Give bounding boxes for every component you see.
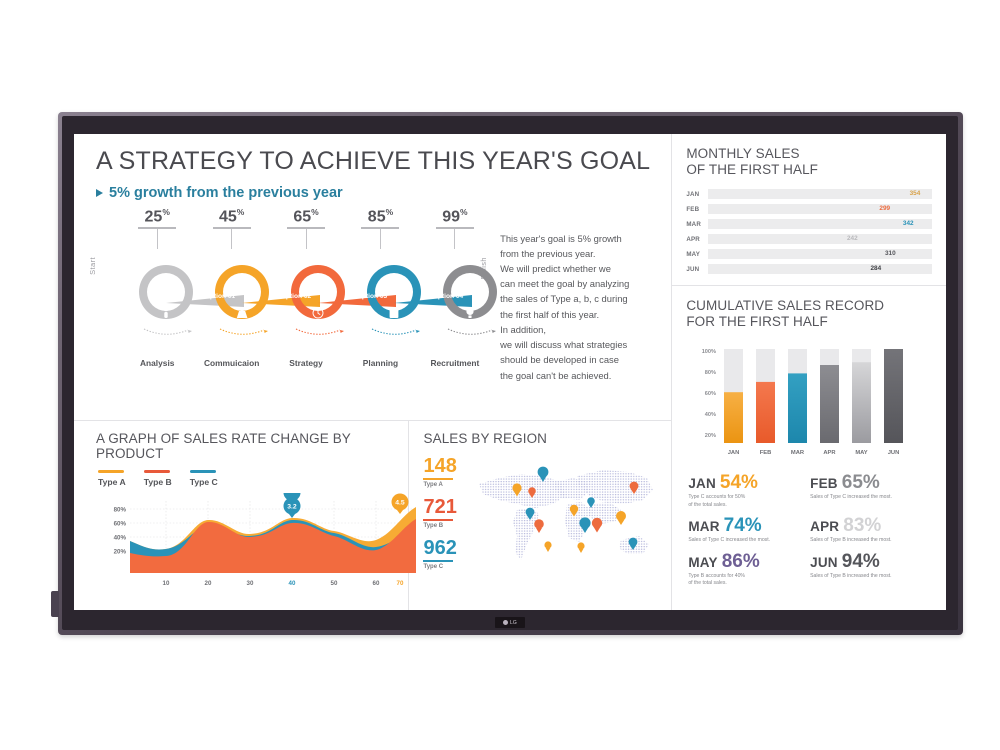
panel-title-line2: FOR THE FIRST HALF	[686, 314, 828, 329]
stat-desc-line: Type C accounts for 50%	[688, 494, 810, 502]
stat-cell: FEB 65% Sales of Type C increased the mo…	[810, 473, 932, 516]
start-label: Start	[88, 257, 97, 275]
region-stat-rule	[423, 519, 453, 521]
lg-logo-text: LG	[510, 620, 517, 626]
monitor-side-connector	[51, 591, 59, 617]
region-stat-list: 148 Type A 721 Type B	[423, 452, 469, 581]
infographic-slide: A STRATEGY TO ACHIEVE THIS YEAR'S GOAL 5…	[74, 134, 946, 610]
svg-text:Option 02: Option 02	[281, 293, 312, 300]
callout-stem	[306, 229, 307, 249]
panel-title: A GRAPH OF SALES RATE CHANGE BY PRODUCT	[96, 431, 396, 461]
cumulative-bar-may	[852, 362, 871, 443]
region-stat: 962 Type C	[423, 538, 469, 570]
bar-track: 299	[708, 204, 932, 214]
monitor-device: LG A STRATEGY TO ACHIEVE THIS YEAR'S GOA…	[58, 112, 963, 635]
process-step-labels: Analysis Commuicaion Strategy Planning R…	[86, 358, 492, 368]
svg-text:70: 70	[397, 580, 404, 587]
svg-text:80%: 80%	[705, 370, 716, 376]
cumulative-bar-jun	[884, 349, 903, 443]
percent-value: 45	[219, 208, 237, 225]
region-stat-value: 721	[423, 497, 469, 517]
process-chain: Start Finish	[86, 247, 492, 355]
bar-label: JUN	[686, 266, 708, 273]
svg-text:100%: 100%	[702, 349, 716, 355]
stat-month: JUN	[810, 555, 838, 570]
bar-label: FEB	[686, 206, 708, 213]
region-stat-value: 962	[423, 538, 469, 558]
map-marker	[578, 542, 585, 553]
region-stat: 148 Type A	[423, 456, 469, 488]
svg-text:Option 04: Option 04	[433, 293, 464, 300]
region-stat-label: Type B	[423, 523, 469, 529]
bar-value: 310	[885, 250, 896, 257]
step-label: Strategy	[269, 358, 343, 368]
bottom-panels: A GRAPH OF SALES RATE CHANGE BY PRODUCT …	[74, 420, 671, 610]
bar-row: APR 242	[686, 234, 932, 245]
map-landmass	[479, 470, 653, 560]
panel-title: MONTHLY SALES OF THE FIRST HALF	[686, 146, 932, 179]
legend-label: Type A	[98, 477, 126, 487]
hero-block: A STRATEGY TO ACHIEVE THIS YEAR'S GOAL 5…	[74, 134, 671, 201]
bar-row: MAY 310	[686, 249, 932, 260]
percent-symbol: %	[162, 207, 170, 217]
stat-percent: 54%	[720, 473, 758, 492]
legend-label: Type C	[190, 477, 218, 487]
right-column: MONTHLY SALES OF THE FIRST HALF JAN 354	[671, 134, 946, 610]
stat-desc-line: of the total sales.	[688, 502, 810, 510]
percent-callout: 99%	[418, 207, 492, 249]
stat-percent: 83%	[843, 516, 881, 535]
region-stat-label: Type A	[423, 482, 469, 488]
panel-title-line2: OF THE FIRST HALF	[686, 162, 818, 177]
chart-legend: Type A Type B Type C	[96, 470, 396, 487]
panel-title: CUMULATIVE SALES RECORD FOR THE FIRST HA…	[686, 298, 932, 331]
legend-swatch	[144, 470, 170, 473]
bar-row: JUN 284	[686, 264, 932, 275]
svg-text:Option 03: Option 03	[357, 293, 388, 300]
bar-value: 242	[847, 235, 858, 242]
subtitle-text: 5% growth from the previous year	[109, 185, 343, 201]
lg-logo-dot	[503, 620, 508, 625]
percent-symbol: %	[237, 207, 245, 217]
legend-item: Type B	[144, 470, 172, 487]
svg-text:JAN: JAN	[728, 450, 740, 456]
region-content: 148 Type A 721 Type B	[423, 452, 661, 581]
percent-callout: 45%	[194, 207, 268, 249]
legend-item: Type C	[190, 470, 218, 487]
world-map	[469, 452, 661, 581]
sales-by-region-panel: SALES BY REGION 148 Type A 72	[408, 421, 671, 610]
lg-logo: LG	[495, 617, 525, 628]
svg-text:60%: 60%	[705, 391, 716, 397]
subtitle-row: 5% growth from the previous year	[96, 185, 653, 201]
panel-title-line1: CUMULATIVE SALES RECORD	[686, 298, 884, 313]
stat-row: MAY 86% Type B accounts for 40% of the t…	[688, 552, 932, 595]
svg-text:30: 30	[247, 580, 254, 587]
stat-percent: 74%	[724, 516, 762, 535]
percent-callout: 65%	[269, 207, 343, 249]
svg-text:20%: 20%	[705, 433, 716, 439]
stat-cell: APR 83% Sales of Type B increased the mo…	[810, 516, 932, 552]
map-marker	[545, 541, 552, 552]
monthly-bar-chart: JAN 354 FEB 299	[686, 189, 932, 275]
process-row: 25% 45% 65%	[74, 201, 671, 421]
bar-label: APR	[686, 236, 708, 243]
percent-symbol: %	[311, 207, 319, 217]
percent-callout: 25%	[120, 207, 194, 249]
stat-month: FEB	[810, 476, 838, 491]
area-chart: 80% 60% 40% 20%	[96, 493, 396, 602]
region-stat: 721 Type B	[423, 497, 469, 529]
stat-month: JAN	[688, 476, 716, 491]
map-marker	[616, 511, 626, 525]
bar-track: 342	[708, 219, 932, 229]
svg-text:60: 60	[373, 580, 380, 587]
stat-month: MAR	[688, 519, 719, 534]
cumulative-bar-jan	[724, 392, 743, 443]
bar-value: 354	[910, 190, 921, 197]
svg-text:JUN: JUN	[888, 450, 900, 456]
step-label: Recruitment	[418, 358, 492, 368]
page-title: A STRATEGY TO ACHIEVE THIS YEAR'S GOAL	[96, 148, 653, 176]
callout-stem	[380, 229, 381, 249]
stat-cell: MAR 74% Sales of Type C increased the mo…	[688, 516, 810, 552]
percent-value: 65	[293, 208, 311, 225]
cumulative-sales-panel: CUMULATIVE SALES RECORD FOR THE FIRST HA…	[672, 285, 946, 467]
svg-text:40%: 40%	[114, 535, 127, 542]
stat-cell: JUN 94% Sales of Type B increased the mo…	[810, 552, 932, 595]
bar-track: 354	[708, 189, 932, 199]
percent-symbol: %	[386, 207, 394, 217]
stat-cell: JAN 54% Type C accounts for 50% of the t…	[688, 473, 810, 516]
monthly-sales-panel: MONTHLY SALES OF THE FIRST HALF JAN 354	[672, 134, 946, 285]
bar-value: 284	[870, 265, 881, 272]
svg-text:4.5: 4.5	[395, 500, 405, 507]
svg-text:20%: 20%	[114, 549, 127, 556]
panel-title-line1: MONTHLY SALES	[686, 146, 799, 161]
percent-value: 85	[368, 208, 386, 225]
bar-track: 242	[708, 234, 932, 244]
svg-text:FEB: FEB	[760, 450, 772, 456]
stat-desc-line: Sales of Type C increased the most.	[688, 537, 810, 545]
legend-label: Type B	[144, 477, 172, 487]
stat-percent: 94%	[842, 552, 880, 571]
step-label: Commuicaion	[194, 358, 268, 368]
percent-callouts: 25% 45% 65%	[86, 207, 492, 249]
bar-label: MAY	[686, 251, 708, 258]
svg-text:3.2: 3.2	[287, 504, 297, 511]
region-stat-rule	[423, 478, 453, 480]
triangle-bullet-icon	[96, 189, 103, 197]
bar-row: MAR 342	[686, 219, 932, 230]
stat-desc-line: Sales of Type B increased the most.	[810, 573, 932, 581]
svg-text:MAR: MAR	[791, 450, 805, 456]
region-stat-label: Type C	[423, 564, 469, 570]
svg-text:APR: APR	[824, 450, 837, 456]
legend-item: Type A	[98, 470, 126, 487]
monitor-bezel: LG A STRATEGY TO ACHIEVE THIS YEAR'S GOA…	[62, 116, 958, 630]
callout-stem	[231, 229, 232, 249]
legend-swatch	[190, 470, 216, 473]
screen-content: A STRATEGY TO ACHIEVE THIS YEAR'S GOAL 5…	[74, 134, 946, 610]
stat-desc-line: Type B accounts for 40%	[688, 573, 810, 581]
cumulative-bar-apr	[820, 365, 839, 443]
svg-text:Option 01: Option 01	[205, 293, 236, 300]
left-column: A STRATEGY TO ACHIEVE THIS YEAR'S GOAL 5…	[74, 134, 671, 610]
svg-text:60%: 60%	[114, 521, 127, 528]
monthly-stat-grid: JAN 54% Type C accounts for 50% of the t…	[672, 467, 946, 603]
stat-desc-line: Sales of Type B increased the most.	[810, 537, 932, 545]
cumulative-bar-chart: 100% 80% 60% 40% 20%	[686, 341, 932, 461]
region-stat-rule	[423, 560, 453, 562]
stat-cell: MAY 86% Type B accounts for 40% of the t…	[688, 552, 810, 595]
bar-track: 310	[708, 249, 932, 259]
svg-text:MAY: MAY	[856, 450, 868, 456]
chart-marker-4-5: 4.5	[392, 494, 409, 515]
stat-row: JAN 54% Type C accounts for 50% of the t…	[688, 473, 932, 516]
cumulative-bar-mar	[788, 373, 807, 443]
stat-percent: 86%	[722, 552, 760, 571]
map-marker	[592, 518, 602, 533]
step-label: Planning	[343, 358, 417, 368]
bar-label: JAN	[686, 191, 708, 198]
percent-value: 99	[442, 208, 460, 225]
percent-value: 25	[145, 208, 163, 225]
percent-symbol: %	[460, 207, 468, 217]
paragraph-line: This year's goal is 5% growth	[500, 231, 657, 246]
stat-desc-line: Sales of Type C increased the most.	[810, 494, 932, 502]
bar-value: 342	[903, 220, 914, 227]
panel-title: SALES BY REGION	[423, 431, 661, 446]
paragraph-line: the goal can't be achieved.	[500, 368, 657, 383]
cumulative-bar-feb	[756, 382, 775, 443]
callout-stem	[454, 229, 455, 249]
process-diagram: 25% 45% 65%	[74, 207, 492, 421]
region-stat-value: 148	[423, 456, 469, 476]
step-label: Analysis	[120, 358, 194, 368]
stat-month: MAY	[688, 555, 717, 570]
map-marker	[534, 519, 544, 533]
legend-swatch	[98, 470, 124, 473]
bar-value: 299	[879, 205, 890, 212]
sales-rate-panel: A GRAPH OF SALES RATE CHANGE BY PRODUCT …	[74, 421, 408, 610]
percent-callout: 85%	[343, 207, 417, 249]
callout-stem	[157, 229, 158, 249]
chart-marker-3-2: 3.2	[284, 493, 301, 518]
svg-text:40%: 40%	[705, 412, 716, 418]
svg-text:50: 50	[331, 580, 338, 587]
stat-month: APR	[810, 519, 839, 534]
stat-desc-line: of the total sales.	[688, 580, 810, 588]
bar-label: MAR	[686, 221, 708, 228]
svg-text:20: 20	[205, 580, 212, 587]
svg-text:80%: 80%	[114, 507, 127, 514]
stat-row: MAR 74% Sales of Type C increased the mo…	[688, 516, 932, 552]
svg-text:10: 10	[163, 580, 170, 587]
bar-track: 284	[708, 264, 932, 274]
bar-row: JAN 354	[686, 189, 932, 200]
svg-text:40: 40	[289, 580, 296, 587]
bar-row: FEB 299	[686, 204, 932, 215]
stat-percent: 65%	[842, 473, 880, 492]
